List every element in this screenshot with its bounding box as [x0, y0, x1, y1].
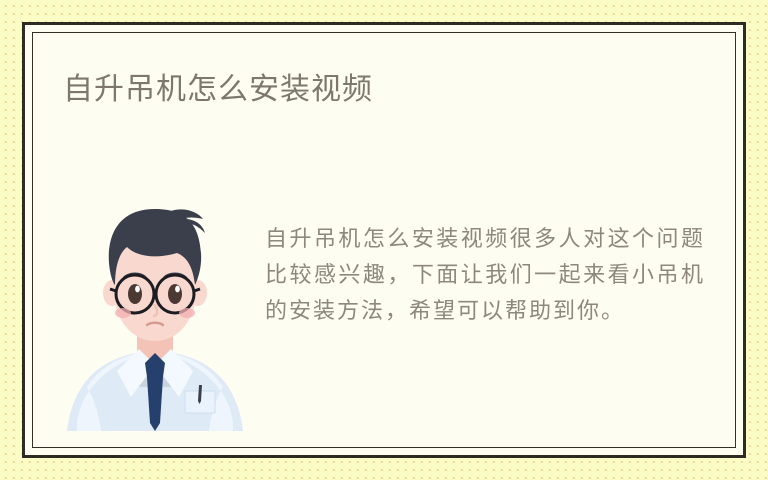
article-frame-inner: 自升吊机怎么安装视频 [32, 32, 736, 448]
article-content: 自升吊机怎么安装视频很多人对这个问题比较感兴趣，下面让我们一起来看小吊机的安装方… [33, 183, 735, 447]
page-background: 自升吊机怎么安装视频 [0, 0, 768, 480]
cartoon-boy-illustration [65, 201, 245, 431]
article-body-text: 自升吊机怎么安装视频很多人对这个问题比较感兴趣，下面让我们一起来看小吊机的安装方… [265, 221, 705, 329]
page-title: 自升吊机怎么安装视频 [63, 71, 373, 109]
article-frame-outer: 自升吊机怎么安装视频 [22, 22, 746, 458]
